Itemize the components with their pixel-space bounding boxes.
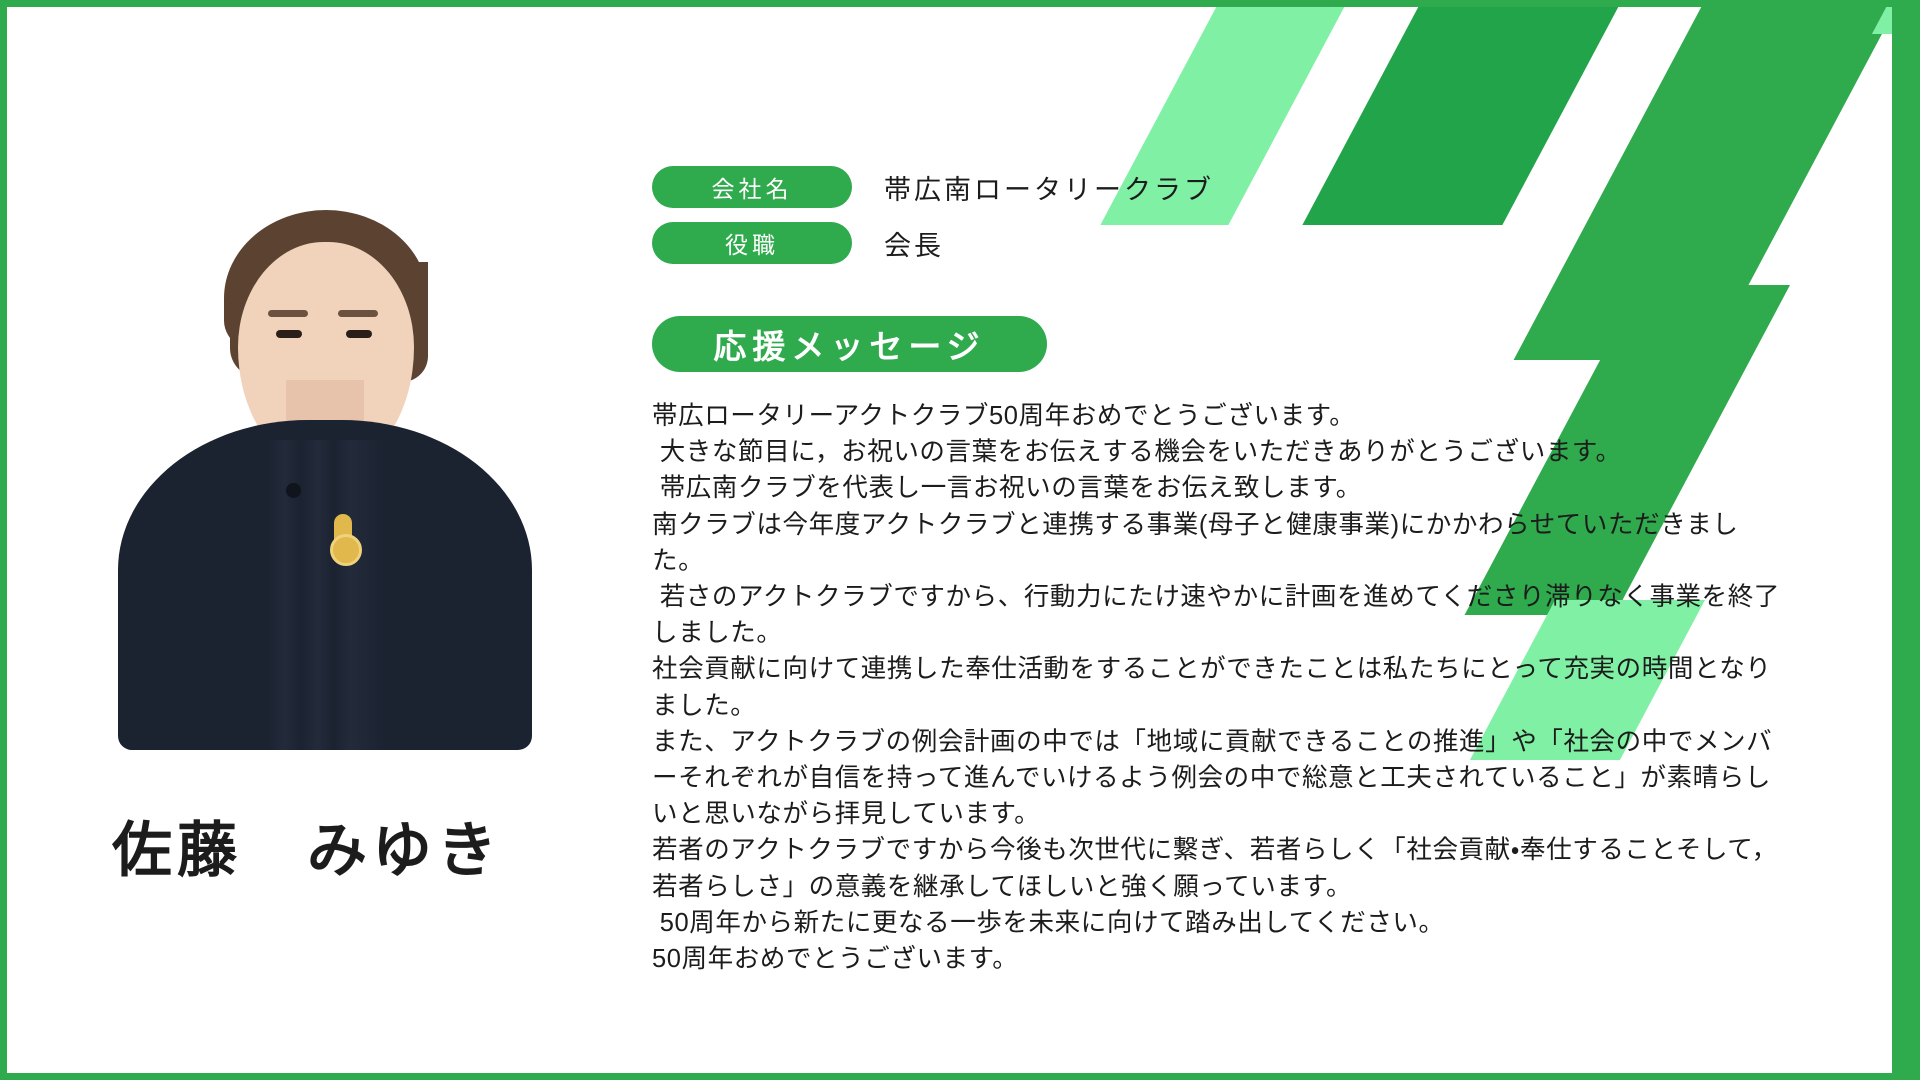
position-label-pill: 役職 (652, 222, 852, 264)
avatar (90, 170, 560, 750)
light-wedge-shape (1872, 0, 1920, 34)
message-body: 帯広ロータリーアクトクラブ50周年おめでとうございます。 大きな節目に，お祝いの… (652, 398, 1787, 977)
portrait-column: 佐藤 みゆき (90, 170, 560, 889)
message-heading-pill: 応援メッセージ (652, 316, 1047, 372)
info-row-company: 会社名 帯広南ロータリークラブ (652, 166, 1802, 208)
eye-right-shape (346, 330, 372, 338)
info-row-position: 役職 会長 (652, 222, 1802, 264)
rotary-pin-icon (334, 514, 352, 554)
details-column: 会社名 帯広南ロータリークラブ 役職 会長 応援メッセージ 帯広ロータリーアクト… (652, 166, 1802, 977)
company-label-pill: 会社名 (652, 166, 852, 208)
eye-left-shape (276, 330, 302, 338)
eyebrow-left-shape (268, 310, 308, 317)
company-value: 帯広南ロータリークラブ (884, 168, 1214, 207)
profile-card-page: 佐藤 みゆき 会社名 帯広南ロータリークラブ 役職 会長 応援メッセージ 帯広ロ… (0, 0, 1920, 1080)
right-edge-green-band (1892, 0, 1920, 1080)
collar-button-shape (286, 483, 301, 498)
person-name: 佐藤 みゆき (90, 802, 560, 889)
position-value: 会長 (884, 224, 944, 263)
clothing-shape (118, 420, 532, 750)
eyebrow-right-shape (338, 310, 378, 317)
